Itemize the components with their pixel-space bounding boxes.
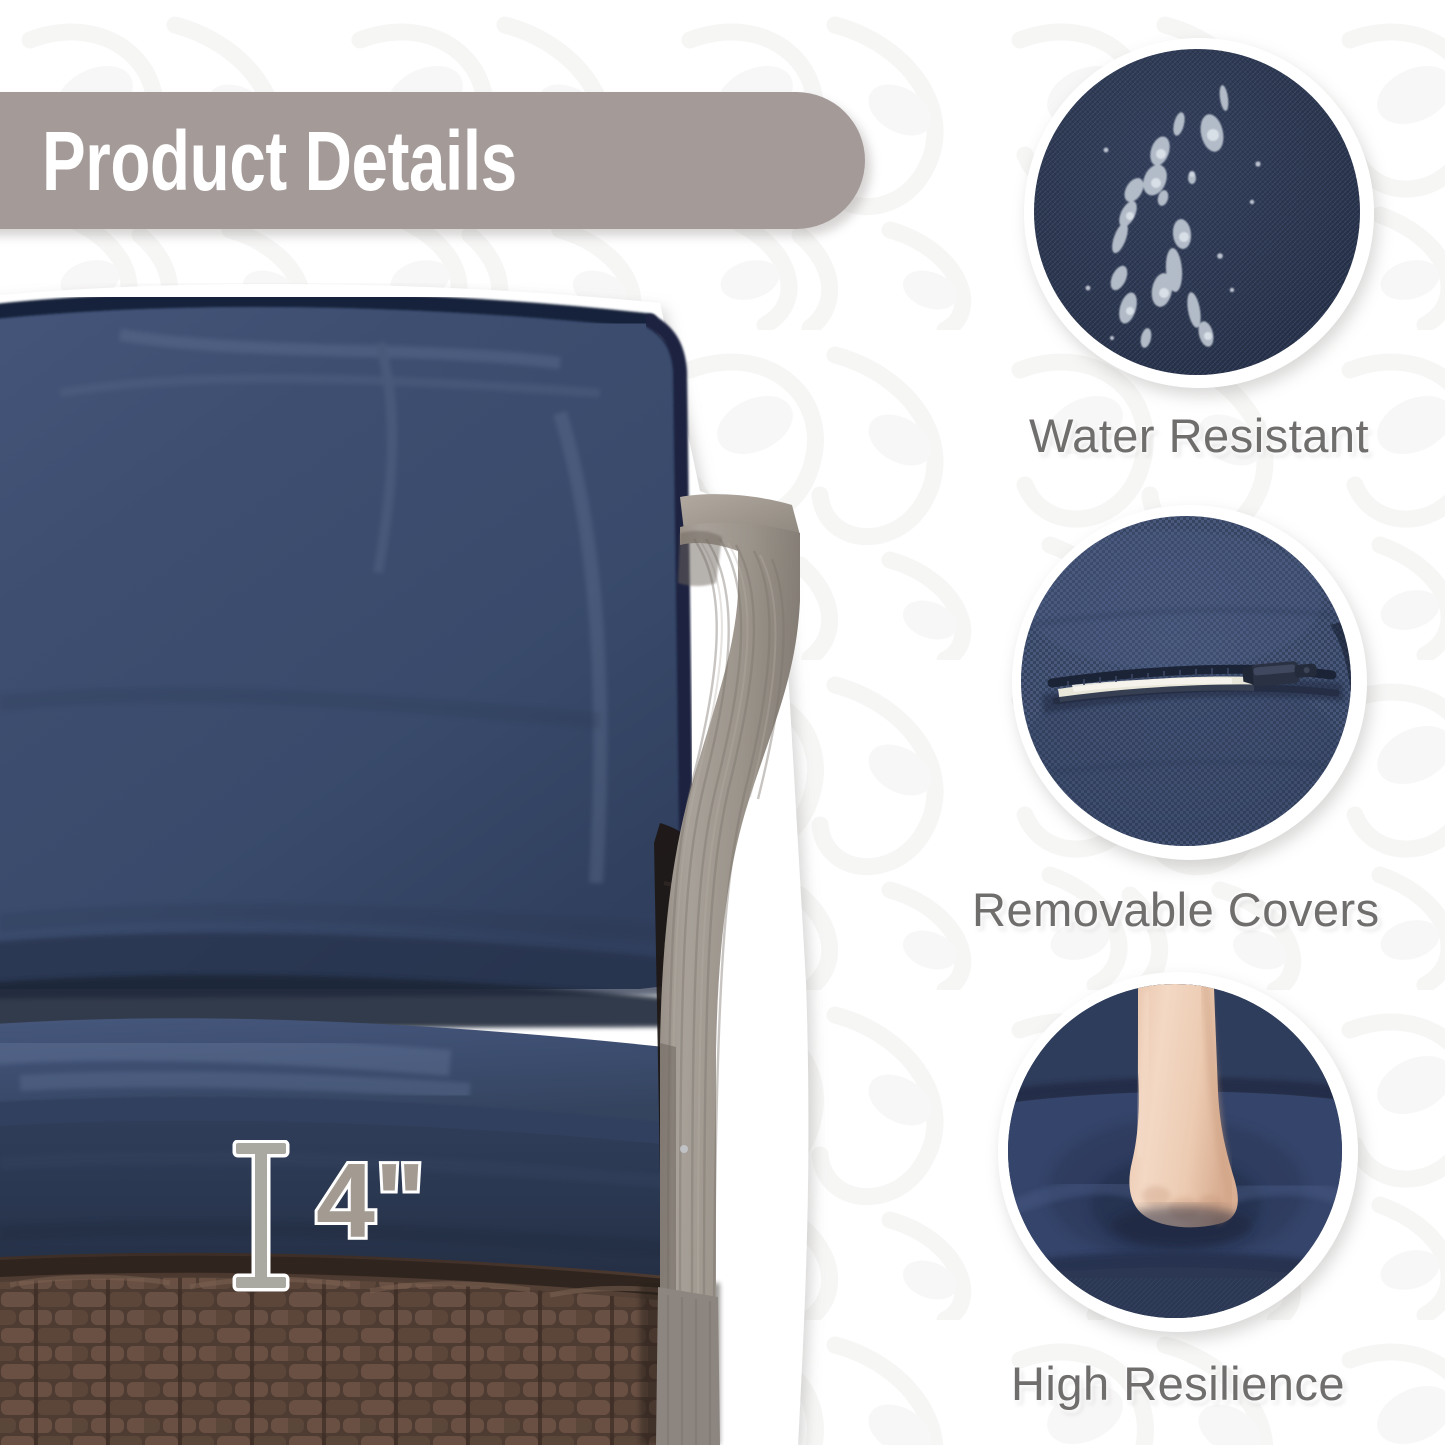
feature-high-resilience: High Resilience [998, 972, 1358, 1411]
product-photo-sofa-closeup [0, 283, 845, 1445]
water-resistant-circle-photo [1024, 38, 1374, 388]
feature-removable-covers: Removable Covers [1012, 505, 1380, 937]
dimension-label: 4" [316, 1148, 425, 1254]
dimension-marker-4in [230, 1140, 292, 1292]
feature-caption-water-resistant: Water Resistant [1024, 408, 1374, 463]
high-resilience-circle-photo [998, 972, 1358, 1332]
feature-water-resistant: Water Resistant [1024, 38, 1374, 463]
feature-caption-removable-covers: Removable Covers [972, 882, 1380, 937]
page-title: Product Details [42, 119, 517, 203]
removable-covers-circle-photo [1012, 505, 1367, 860]
feature-caption-high-resilience: High Resilience [998, 1356, 1358, 1411]
product-details-banner: Product Details [0, 92, 865, 229]
